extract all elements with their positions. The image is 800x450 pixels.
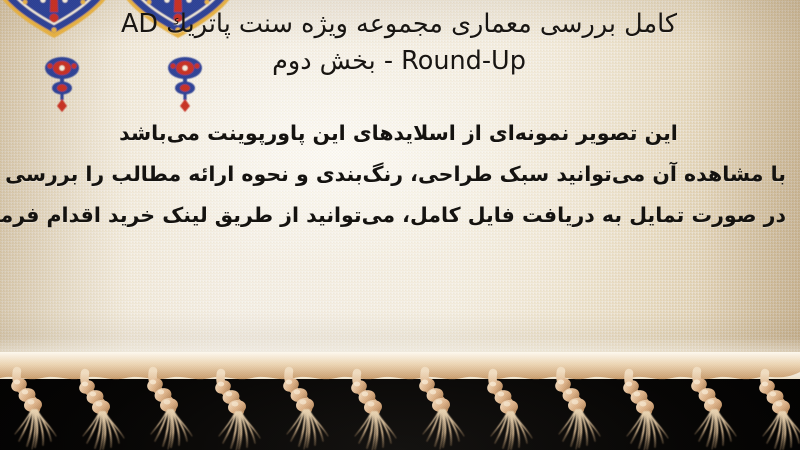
slide-canvas: کامل بررسی معماری مجموعه ویژه سنت پاتریك… <box>0 0 800 450</box>
persian-carpet-background <box>0 0 800 379</box>
carpet-vignette-shading <box>0 0 800 379</box>
carpet-selvedge-edge <box>0 337 800 379</box>
